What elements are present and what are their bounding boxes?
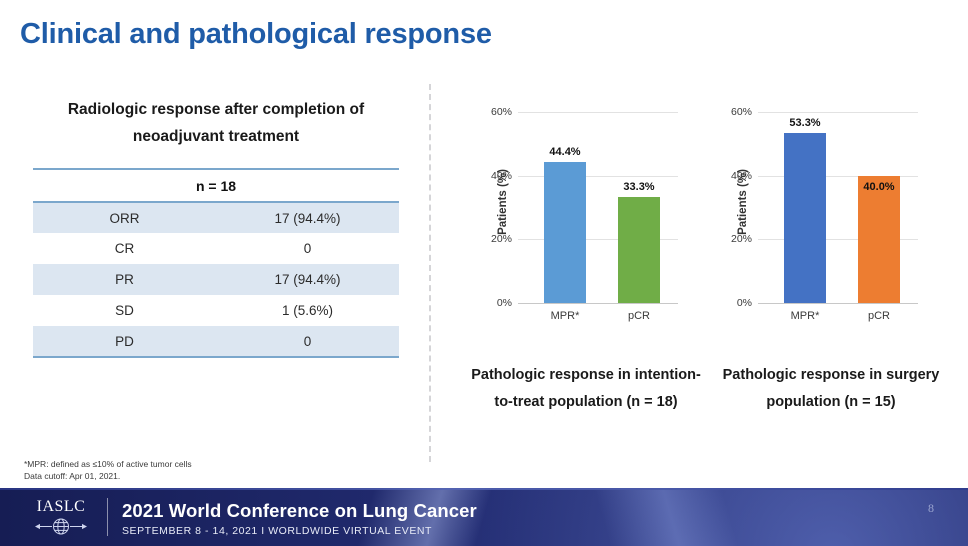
radiologic-response-table: n = 18 ORR 17 (94.4%) CR 0 PR 17 (94.4%)… (33, 168, 399, 358)
footnote-line-1: *MPR: defined as ≤10% of active tumor ce… (24, 458, 192, 470)
globe-icon (28, 518, 94, 540)
page-title: Clinical and pathological response (20, 18, 492, 51)
row-value: 1 (5.6%) (216, 295, 399, 326)
footnote: *MPR: defined as ≤10% of active tumor ce… (24, 458, 192, 483)
caption-line-1: Pathologic response in intention- (462, 362, 710, 389)
row-label: PR (33, 264, 216, 295)
table-title: Radiologic response after completion of … (33, 96, 399, 150)
conference-banner: IASLC 2021 World Co (0, 488, 968, 546)
table-row: PR 17 (94.4%) (33, 264, 399, 295)
table-row: ORR 17 (94.4%) (33, 202, 399, 233)
slide: Clinical and pathological response Radio… (0, 0, 968, 546)
x-axis-tick-label: pCR (868, 310, 890, 322)
radiologic-response-panel: Radiologic response after completion of … (33, 96, 399, 358)
row-label: ORR (33, 202, 216, 233)
row-value: 0 (216, 233, 399, 264)
bar-value-label: 33.3% (623, 181, 654, 193)
plot-area: 0%20%40%60%53.3%MPR*40.0%pCR (758, 112, 918, 304)
chart-itt-population: Patients (%) 0%20%40%60%44.4%MPR*33.3%pC… (474, 100, 684, 330)
bar: 33.3%pCR (618, 197, 660, 303)
bar-rect (858, 176, 900, 303)
table-header-n: n = 18 (33, 169, 399, 202)
y-axis-tick-label: 0% (737, 297, 752, 309)
row-label: SD (33, 295, 216, 326)
vertical-divider (429, 84, 431, 462)
gridline (758, 112, 918, 113)
page-number: 8 (928, 501, 934, 516)
banner-separator (107, 498, 108, 536)
gridline (518, 176, 678, 177)
row-label: CR (33, 233, 216, 264)
iaslc-wordmark: IASLC (28, 499, 94, 515)
bar: 40.0%pCR (858, 176, 900, 303)
chart-caption-itt: Pathologic response in intention- to-tre… (462, 362, 710, 416)
table-row: CR 0 (33, 233, 399, 264)
row-label: PD (33, 326, 216, 357)
iaslc-logo: IASLC (28, 499, 94, 540)
table-row: PD 0 (33, 326, 399, 357)
table-title-line-2: neoadjuvant treatment (33, 123, 399, 150)
bar-rect (618, 197, 660, 303)
row-value: 17 (94.4%) (216, 264, 399, 295)
gridline (518, 112, 678, 113)
x-axis-tick-label: MPR* (551, 310, 580, 322)
table-row: SD 1 (5.6%) (33, 295, 399, 326)
bar-rect (784, 133, 826, 303)
bar-rect (544, 162, 586, 303)
bar: 53.3%MPR* (784, 133, 826, 303)
y-axis-tick-label: 0% (497, 297, 512, 309)
conference-title: 2021 World Conference on Lung Cancer (122, 500, 477, 522)
conference-subtitle: SEPTEMBER 8 - 14, 2021 I WORLDWIDE VIRTU… (122, 525, 432, 537)
row-value: 0 (216, 326, 399, 357)
y-axis-tick-label: 60% (731, 106, 752, 118)
bar: 44.4%MPR* (544, 162, 586, 303)
caption-line-2: population (n = 15) (712, 389, 950, 416)
footnote-line-2: Data cutoff: Apr 01, 2021. (24, 470, 192, 482)
y-axis-tick-label: 40% (731, 170, 752, 182)
plot-area: 0%20%40%60%44.4%MPR*33.3%pCR (518, 112, 678, 304)
x-axis-tick-label: MPR* (791, 310, 820, 322)
table-header-row: n = 18 (33, 169, 399, 202)
y-axis-tick-label: 20% (491, 233, 512, 245)
caption-line-2: to-treat population (n = 18) (462, 389, 710, 416)
chart-caption-surgery: Pathologic response in surgery populatio… (712, 362, 950, 416)
bar-value-label: 53.3% (789, 117, 820, 129)
x-axis-tick-label: pCR (628, 310, 650, 322)
chart-canvas: Patients (%) 0%20%40%60%53.3%MPR*40.0%pC… (714, 100, 924, 330)
bar-value-label: 44.4% (549, 146, 580, 158)
table-title-line-1: Radiologic response after completion of (33, 96, 399, 123)
chart-canvas: Patients (%) 0%20%40%60%44.4%MPR*33.3%pC… (474, 100, 684, 330)
y-axis-tick-label: 60% (491, 106, 512, 118)
caption-line-1: Pathologic response in surgery (712, 362, 950, 389)
banner-top-edge (0, 488, 968, 490)
bar-value-label: 40.0% (863, 181, 894, 193)
y-axis-tick-label: 40% (491, 170, 512, 182)
row-value: 17 (94.4%) (216, 202, 399, 233)
chart-surgery-population: Patients (%) 0%20%40%60%53.3%MPR*40.0%pC… (714, 100, 924, 330)
y-axis-tick-label: 20% (731, 233, 752, 245)
